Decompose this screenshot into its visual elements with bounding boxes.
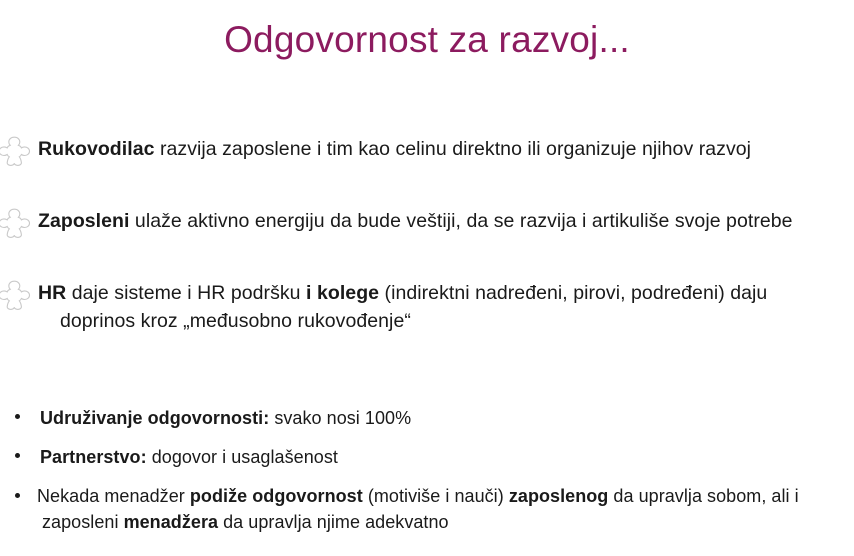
list-item: Nekada menadžer podiže odgovornost (moti…: [0, 484, 840, 534]
list-item: Partnerstvo: dogovor i usaglašenost: [0, 445, 840, 470]
list-item-body: dogovor i usaglašenost: [147, 447, 338, 467]
bullet-dot-icon: [15, 493, 20, 498]
person-outline-icon: [0, 278, 32, 314]
list-item-emphasis-secondary: i kolege: [306, 282, 379, 304]
list-item-body: daje sisteme i HR podršku: [66, 282, 306, 304]
list-item: Udruživanje odgovornosti: svako nosi 100…: [0, 406, 840, 431]
page-title: Odgovornost za razvoj...: [0, 20, 854, 61]
list-item-body: razvija zaposlene i tim kao celinu direk…: [155, 138, 752, 160]
slide-canvas: { "slide": { "title": "Odgovornost za ra…: [0, 0, 854, 556]
person-outline-icon: [0, 134, 32, 170]
dot-points-list: Udruživanje odgovornosti: svako nosi 100…: [0, 406, 854, 535]
list-item-emphasis: podiže odgovornost: [190, 486, 363, 506]
list-item-text: HR daje sisteme i HR podršku i kolege (i…: [38, 280, 828, 335]
list-item-body: ulaže aktivno energiju da bude veštiji, …: [129, 210, 792, 232]
list-item-text: Zaposleni ulaže aktivno energiju da bude…: [38, 208, 828, 236]
list-item-emphasis-tertiary: menadžera: [124, 512, 219, 532]
list-item-body: svako nosi 100%: [269, 408, 411, 428]
list-item: HR daje sisteme i HR podršku i kolege (i…: [0, 280, 854, 335]
list-item: Zaposleni ulaže aktivno energiju da bude…: [0, 208, 854, 244]
bullet-dot-icon: [15, 453, 20, 458]
list-item-emphasis: Partnerstvo:: [40, 447, 147, 467]
list-item-emphasis: Zaposleni: [38, 210, 129, 232]
list-item-text: Rukovodilac razvija zaposlene i tim kao …: [38, 136, 828, 164]
list-item-emphasis: Udruživanje odgovornosti:: [40, 408, 269, 428]
list-item-body: (motiviše i nauči): [363, 486, 509, 506]
list-item-emphasis: Rukovodilac: [38, 138, 155, 160]
person-points-list: Rukovodilac razvija zaposlene i tim kao …: [0, 136, 854, 335]
list-item-body-end: da upravlja njime adekvatno: [218, 512, 449, 532]
list-item-emphasis: HR: [38, 282, 66, 304]
list-item-emphasis-secondary: zaposlenog: [509, 486, 609, 506]
list-item-prefix: Nekada menadžer: [37, 486, 190, 506]
list-item: Rukovodilac razvija zaposlene i tim kao …: [0, 136, 854, 172]
person-outline-icon: [0, 206, 32, 242]
bullet-dot-icon: [15, 414, 20, 419]
